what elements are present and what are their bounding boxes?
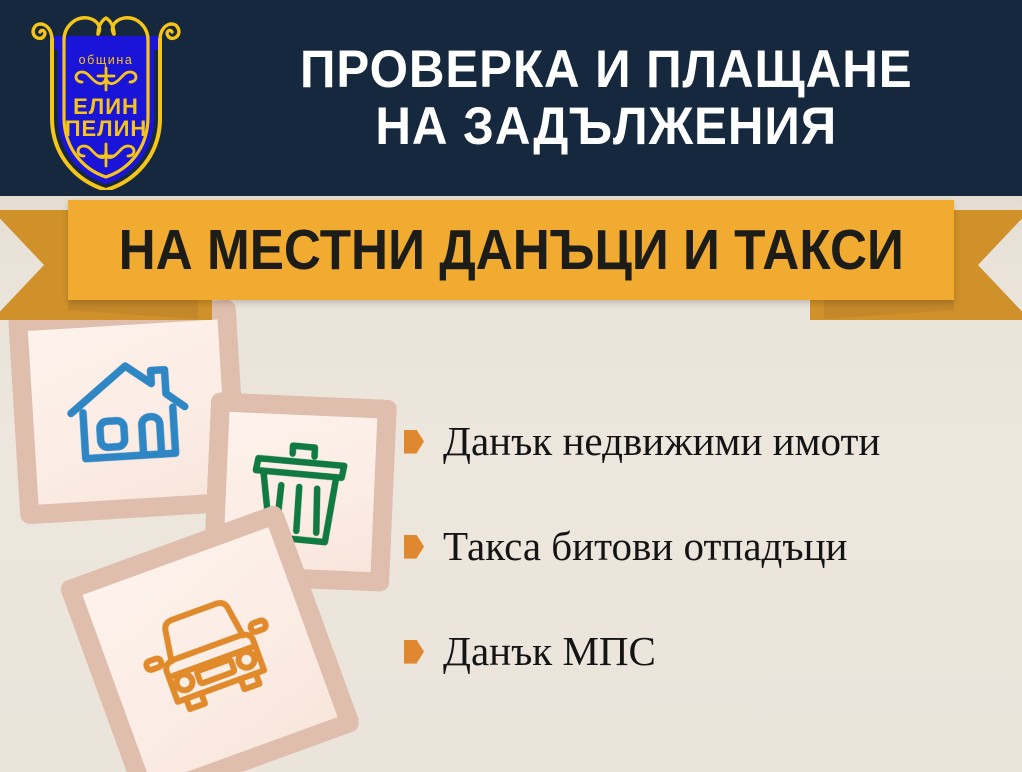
page-title-line-2: НА ЗАДЪЛЖЕНИЯ: [375, 99, 837, 154]
house-icon: [59, 348, 196, 476]
crest-word-pelin: ПЕЛИН: [65, 116, 148, 141]
ribbon-band: НА МЕСТНИ ДАНЪЦИ И ТАКСИ: [68, 200, 954, 300]
car-front-icon: [129, 581, 291, 731]
tax-item-label: Такса битови отпадъци: [443, 525, 847, 568]
stamp-paper: [82, 527, 337, 772]
ribbon-subtitle: НА МЕСТНИ ДАНЪЦИ И ТАКСИ: [118, 217, 903, 283]
arrow-bullet-icon: [404, 640, 424, 664]
coat-of-arms: община ЕЛИН ПЕЛИН: [26, 6, 186, 190]
subtitle-ribbon: НА МЕСТНИ ДАНЪЦИ И ТАКСИ: [0, 196, 1022, 316]
crest-word-top: община: [79, 53, 134, 67]
list-item[interactable]: Такса битови отпадъци: [404, 525, 1016, 568]
poster-header: община ЕЛИН ПЕЛИН ПРОВ: [0, 0, 1022, 196]
tax-item-label: Данък недвижими имоти: [443, 420, 880, 463]
tax-types-list: Данък недвижими имоти Такса битови отпад…: [404, 420, 1016, 673]
poster-canvas: община ЕЛИН ПЕЛИН ПРОВ: [0, 0, 1022, 772]
list-item[interactable]: Данък МПС: [404, 630, 1016, 673]
arrow-bullet-icon: [404, 430, 424, 454]
header-title-block: ПРОВЕРКА И ПЛАЩАНЕ НА ЗАДЪЛЖЕНИЯ: [190, 0, 1022, 196]
stamp-paper: [28, 319, 228, 504]
arrow-bullet-icon: [404, 535, 424, 559]
page-title-line-1: ПРОВЕРКА И ПЛАЩАНЕ: [300, 42, 912, 97]
tax-item-label: Данък МПС: [443, 630, 656, 673]
list-item[interactable]: Данък недвижими имоти: [404, 420, 1016, 463]
